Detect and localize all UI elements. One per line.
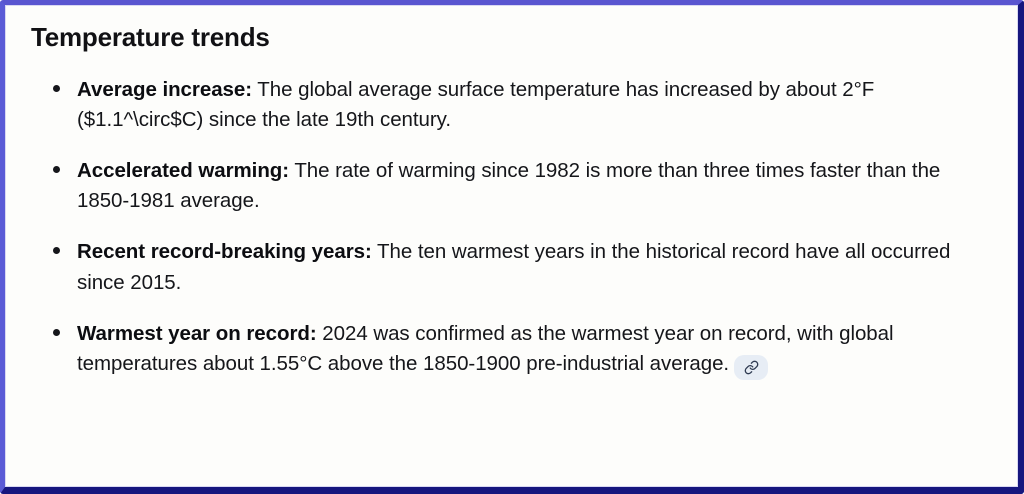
list-item-lead-in: Average increase: [77,78,252,101]
list-item: Warmest year on record: 2024 was confirm… [31,319,992,380]
page-title: Temperature trends [31,23,992,53]
list-item: Recent record-breaking years: The ten wa… [31,237,992,297]
card-content: Temperature trends Average increase: The… [5,5,1018,487]
bullet-dot-icon [53,166,60,173]
trend-list: Average increase: The global average sur… [31,75,992,380]
answer-card: Temperature trends Average increase: The… [0,0,1024,494]
list-item-lead-in: Recent record-breaking years: [77,240,372,263]
bullet-dot-icon [53,247,60,254]
list-item-lead-in: Warmest year on record: [77,322,317,345]
link-icon [744,360,759,375]
list-item: Accelerated warming: The rate of warming… [31,156,992,216]
list-item-lead-in: Accelerated warming: [77,159,289,182]
bullet-dot-icon [53,85,60,92]
list-item: Average increase: The global average sur… [31,75,992,135]
citation-link-button[interactable] [734,355,768,380]
bullet-dot-icon [53,329,60,336]
